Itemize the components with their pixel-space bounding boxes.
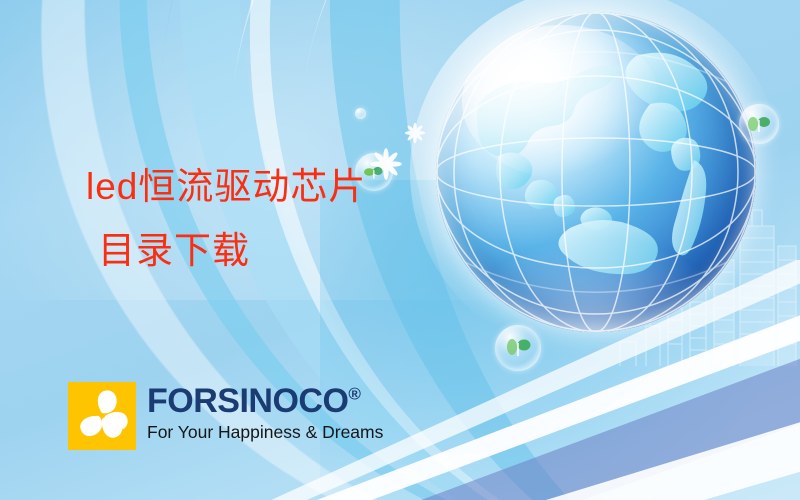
bubble-icon [739,104,779,144]
green-sprout-icon [739,104,779,144]
brand-name-text: FORSINOCO [147,382,348,420]
bubble-icon [355,108,366,119]
brand-name: FORSINOCO® [147,384,383,418]
registered-trademark-icon: ® [348,385,361,404]
headline-line-1: led恒流驱动芯片 [86,168,366,205]
headline-line-2: 目录下载 [86,232,366,269]
brand-text-block: FORSINOCO® For Your Happiness & Dreams [147,382,383,442]
headline: led恒流驱动芯片 目录下载 [86,168,366,269]
brand-logo: FORSINOCO® For Your Happiness & Dreams [68,382,383,450]
four-petal-pinwheel-icon [68,382,136,450]
brand-tagline: For Your Happiness & Dreams [147,424,383,442]
promo-banner: led恒流驱动芯片 目录下载 FORSINOCO® For Your Happi… [0,0,800,500]
starburst-flower-icon [404,122,426,144]
bottom-diagonal-stripes [200,260,800,500]
